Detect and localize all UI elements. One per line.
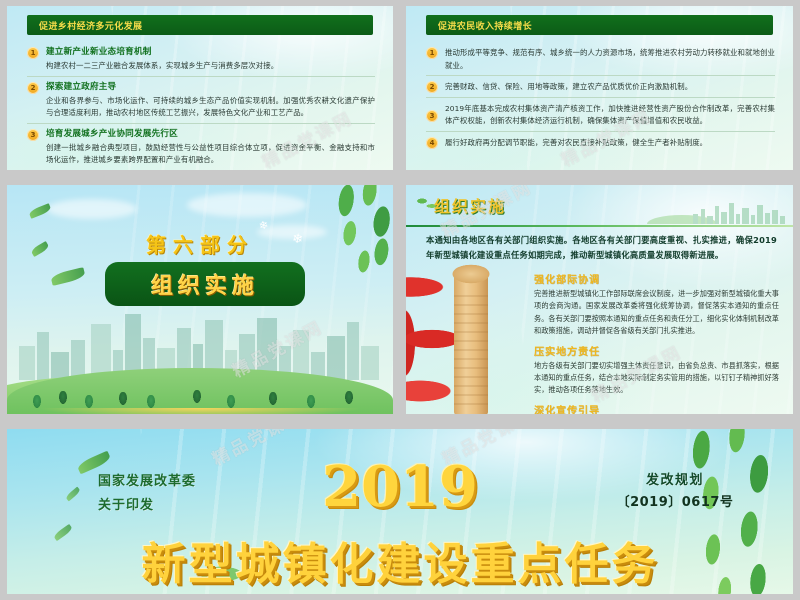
list-item: 2 完善财政、信贷、保险、用地等政策，建立农产品优质优价正向激励机制。: [426, 75, 775, 97]
doc-number: 〔2019〕0617号: [600, 492, 750, 514]
huabiao-pillar-shape: [454, 267, 488, 414]
subsection: 深化宣传引导 各地区各有关部门要加强引导指导、创新宣传方式，发挥示范带动效应。国…: [534, 402, 779, 414]
slide-panel-section-divider[interactable]: ❄ ❄ 第六部分 组织实施: [7, 185, 393, 414]
item-text: 创建一批城乡融合典型项目，鼓励经营性与公益性项目综合体立项，促进资金平衡、金融支…: [46, 142, 375, 167]
section-title-plate: 组织实施: [105, 262, 305, 306]
gold-glow-strip: [38, 408, 362, 414]
doc-label: 发改规划: [600, 470, 750, 492]
intro-paragraph: 本通知由各地区各有关部门组织实施。各地区各有关部门要高度重视、扎实推进，确保20…: [426, 233, 777, 263]
item-text: 推动形成平等竞争、规范有序、城乡统一的人力资源市场，统筹推进农村劳动力转移就业和…: [445, 47, 775, 72]
list-item: 1 建立新产业新业态培育机制 构建农村一二三产业融合发展体系，实现城乡生产与消费…: [27, 42, 375, 76]
pillar-illustration: [406, 267, 534, 414]
org-line-1: 国家发展改革委: [98, 470, 196, 494]
item-number-badge: 1: [426, 47, 438, 59]
org-line-2: 关于印发: [98, 494, 196, 518]
slide-contact-sheet: 促进乡村经济多元化发展 1 建立新产业新业态培育机制 构建农村一二三产业融合发展…: [0, 0, 800, 600]
item-number-badge: 4: [426, 137, 438, 149]
item-text: 履行好政府再分配调节职能，完善对农民直接补贴政策，健全生产者补贴制度。: [445, 137, 775, 150]
item-text: 企业和各界参与、市场化运作、可持续的城乡生态产品价值实现机制。加强优秀农耕文化遗…: [46, 95, 375, 120]
slide-panel-rural-economy[interactable]: 促进乡村经济多元化发展 1 建立新产业新业态培育机制 构建农村一二三产业融合发展…: [7, 6, 393, 170]
subsection-title: 强化部际协调: [534, 271, 779, 286]
item-heading: 建立新产业新业态培育机制: [46, 45, 375, 59]
cover-main-title: 新型城镇化建设重点任务: [7, 539, 793, 591]
numbered-item-list: 1 推动形成平等竞争、规范有序、城乡统一的人力资源市场，统筹推进农村劳动力转移就…: [426, 42, 775, 153]
subsection-title: 压实地方责任: [534, 343, 779, 358]
document-number-block: 发改规划 〔2019〕0617号: [600, 470, 750, 514]
numbered-item-list: 1 建立新产业新业态培育机制 构建农村一二三产业融合发展体系，实现城乡生产与消费…: [27, 42, 375, 170]
cloud-shape: [47, 199, 137, 219]
issuing-organization: 国家发展改革委 关于印发: [98, 470, 196, 518]
list-item: 3 培育发展城乡产业协同发展先行区 创建一批城乡融合典型项目，鼓励经营性与公益性…: [27, 123, 375, 170]
header-skyline-icon: [647, 200, 787, 224]
cover-year: 2019: [300, 458, 500, 516]
subsection: 压实地方责任 地方各级有关部门要切实增强主体责任意识，由省负总责、市县抓落实，根…: [534, 343, 779, 397]
list-item: 4 履行好政府再分配调节职能，完善对农民直接补贴政策，健全生产者补贴制度。: [426, 131, 775, 153]
item-heading: 培育发展城乡产业协同发展先行区: [46, 127, 375, 141]
section-title: 组织实施: [151, 268, 259, 300]
item-text: 构建农村一二三产业融合发展体系，实现城乡生产与消费多层次对接。: [46, 60, 375, 73]
item-text: 2019年底基本完成农村集体资产清产核资工作，加快推进经营性资产股份合作制改革，…: [445, 103, 775, 128]
section-kicker: 第六部分: [7, 229, 393, 258]
slide-panel-farmer-income[interactable]: 促进农民收入持续增长 1 推动形成平等竞争、规范有序、城乡统一的人力资源市场，统…: [406, 6, 793, 170]
slide-header: 组织实施: [406, 185, 793, 229]
list-item: 3 2019年底基本完成农村集体资产清产核资工作，加快推进经营性资产股份合作制改…: [426, 97, 775, 131]
list-item: 1 推动形成平等竞争、规范有序、城乡统一的人力资源市场，统筹推进农村劳动力转移就…: [426, 42, 775, 75]
item-number-badge: 2: [27, 82, 39, 94]
header-divider: [406, 225, 793, 227]
cloud-shape: [187, 193, 307, 217]
slide-panel-implementation[interactable]: 组织实施 本通知由各地区各有关部门组织实施。各地区各有关部门要高度重视、扎实推进…: [406, 185, 793, 414]
item-text: 完善财政、信贷、保险、用地等政策，建立农产品优质优价正向激励机制。: [445, 81, 775, 94]
subsection: 强化部际协调 完善推进新型城镇化工作部际联席会议制度，进一步加强对新型城镇化重大…: [534, 271, 779, 338]
slide-header-title: 组织实施: [434, 193, 506, 217]
section-banner-title: 促进乡村经济多元化发展: [39, 19, 142, 32]
section-banner: 促进乡村经济多元化发展: [27, 15, 373, 35]
item-number-badge: 1: [27, 47, 39, 59]
subsection-list: 强化部际协调 完善推进新型城镇化工作部际联席会议制度，进一步加强对新型城镇化重大…: [534, 271, 779, 414]
subsection-text: 完善推进新型城镇化工作部际联席会议制度，进一步加强对新型城镇化重大事项的会商沟通…: [534, 288, 779, 338]
subsection-text: 地方各级有关部门要切实增强主体责任意识，由省负总责、市县抓落实，根据本通知的重点…: [534, 360, 779, 397]
subsection-title: 深化宣传引导: [534, 402, 779, 414]
section-banner: 促进农民收入持续增长: [426, 15, 773, 35]
list-item: 2 探索建立政府主导 企业和各界参与、市场化运作、可持续的城乡生态产品价值实现机…: [27, 76, 375, 123]
item-heading: 探索建立政府主导: [46, 80, 375, 94]
item-number-badge: 3: [426, 110, 438, 122]
item-number-badge: 3: [27, 129, 39, 141]
slide-panel-cover[interactable]: 国家发展改革委 关于印发 2019 发改规划 〔2019〕0617号 新型城镇化…: [7, 429, 793, 594]
section-banner-title: 促进农民收入持续增长: [438, 19, 532, 32]
